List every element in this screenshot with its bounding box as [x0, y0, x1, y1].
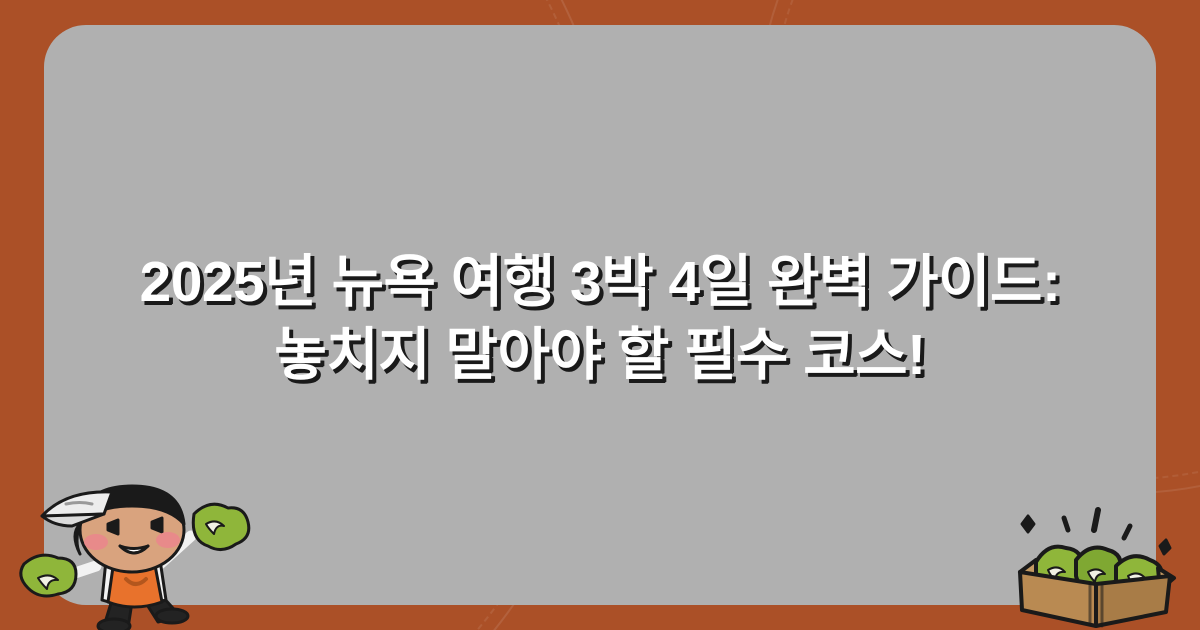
chef-character-illustration — [8, 480, 258, 630]
thumbnail-card: 2025년 뉴욕 여행 3박 4일 완벽 가이드: 놓치지 말아야 할 필수 코… — [0, 0, 1200, 630]
title-line-1: 2025년 뉴욕 여행 3박 4일 완벽 가이드: — [44, 246, 1156, 319]
cabbage-box-illustration — [1002, 500, 1192, 630]
title-line-2: 놓치지 말아야 할 필수 코스! — [44, 319, 1156, 392]
page-title: 2025년 뉴욕 여행 3박 4일 완벽 가이드: 놓치지 말아야 할 필수 코… — [44, 246, 1156, 392]
